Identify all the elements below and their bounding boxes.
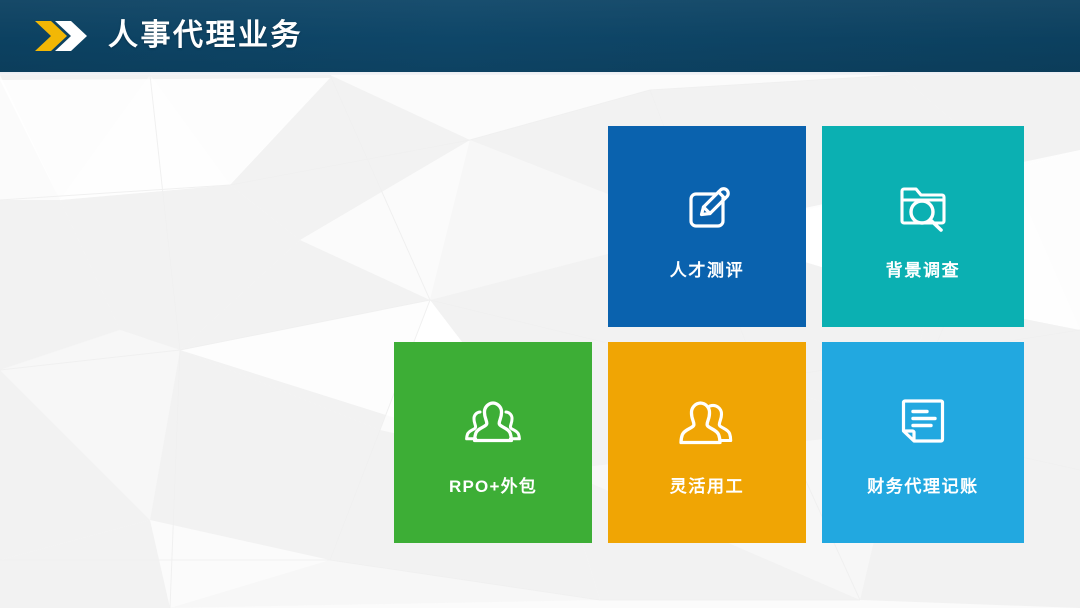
tile-label: 人才测评	[670, 262, 744, 279]
tile-placeholder	[394, 126, 592, 327]
tile-financial-bookkeeping[interactable]: 财务代理记账	[822, 342, 1024, 543]
tile-label: RPO+外包	[449, 478, 537, 495]
tile-flexible-staffing[interactable]: 灵活用工	[608, 342, 806, 543]
header-bar: 人事代理业务	[0, 0, 1080, 72]
tile-background-check[interactable]: 背景调查	[822, 126, 1024, 327]
tile-label: 背景调查	[886, 262, 960, 279]
service-tile-grid: 人才测评 背景调查 RPO+外	[394, 126, 1026, 543]
document-lines-icon	[892, 390, 954, 452]
tile-label: 灵活用工	[670, 478, 744, 495]
folder-search-icon	[892, 174, 954, 236]
three-people-icon	[462, 390, 524, 452]
tile-talent-assessment[interactable]: 人才测评	[608, 126, 806, 327]
tile-label: 财务代理记账	[867, 478, 979, 495]
tile-rpo-outsourcing[interactable]: RPO+外包	[394, 342, 592, 543]
pencil-square-icon	[676, 174, 738, 236]
page-title: 人事代理业务	[108, 21, 303, 51]
header-divider	[0, 72, 1080, 75]
slide-root: 人事代理业务 人才测评	[0, 0, 1080, 608]
double-chevron-icon	[33, 19, 89, 53]
two-people-icon	[676, 390, 738, 452]
